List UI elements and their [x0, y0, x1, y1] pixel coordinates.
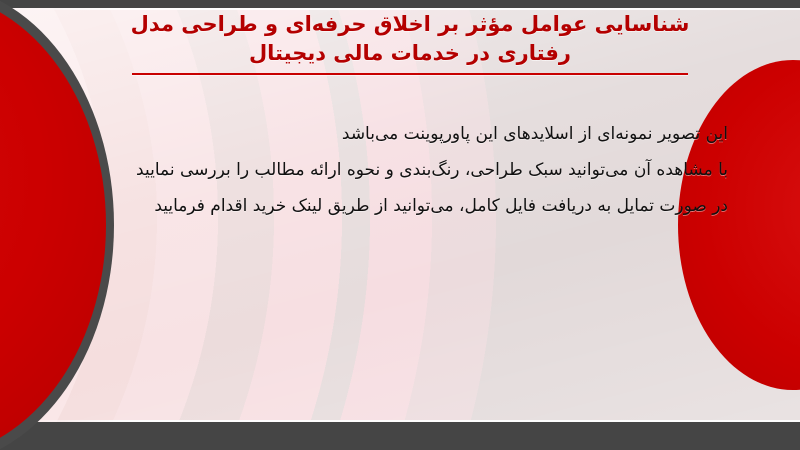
body-line-3: در صورت تمایل به دریافت فایل کامل، می‌تو…	[120, 188, 728, 224]
slide-body-text: این تصویر نمونه‌ای از اسلایدهای این پاور…	[120, 116, 728, 224]
body-line-1: این تصویر نمونه‌ای از اسلایدهای این پاور…	[120, 116, 728, 152]
slide-content: شناسایی عوامل مؤثر بر اخلاق حرفه‌ای و طر…	[0, 0, 800, 450]
title-line-2: رفتاری در خدمات مالی دیجیتال	[120, 39, 700, 68]
title-underline-rule	[132, 73, 688, 75]
body-line-2: با مشاهده آن می‌توانید سبک طراحی، رنگ‌بن…	[120, 152, 728, 188]
title-line-1: شناسایی عوامل مؤثر بر اخلاق حرفه‌ای و طر…	[120, 10, 700, 39]
presentation-slide: شناسایی عوامل مؤثر بر اخلاق حرفه‌ای و طر…	[0, 0, 800, 450]
slide-title: شناسایی عوامل مؤثر بر اخلاق حرفه‌ای و طر…	[120, 10, 700, 75]
